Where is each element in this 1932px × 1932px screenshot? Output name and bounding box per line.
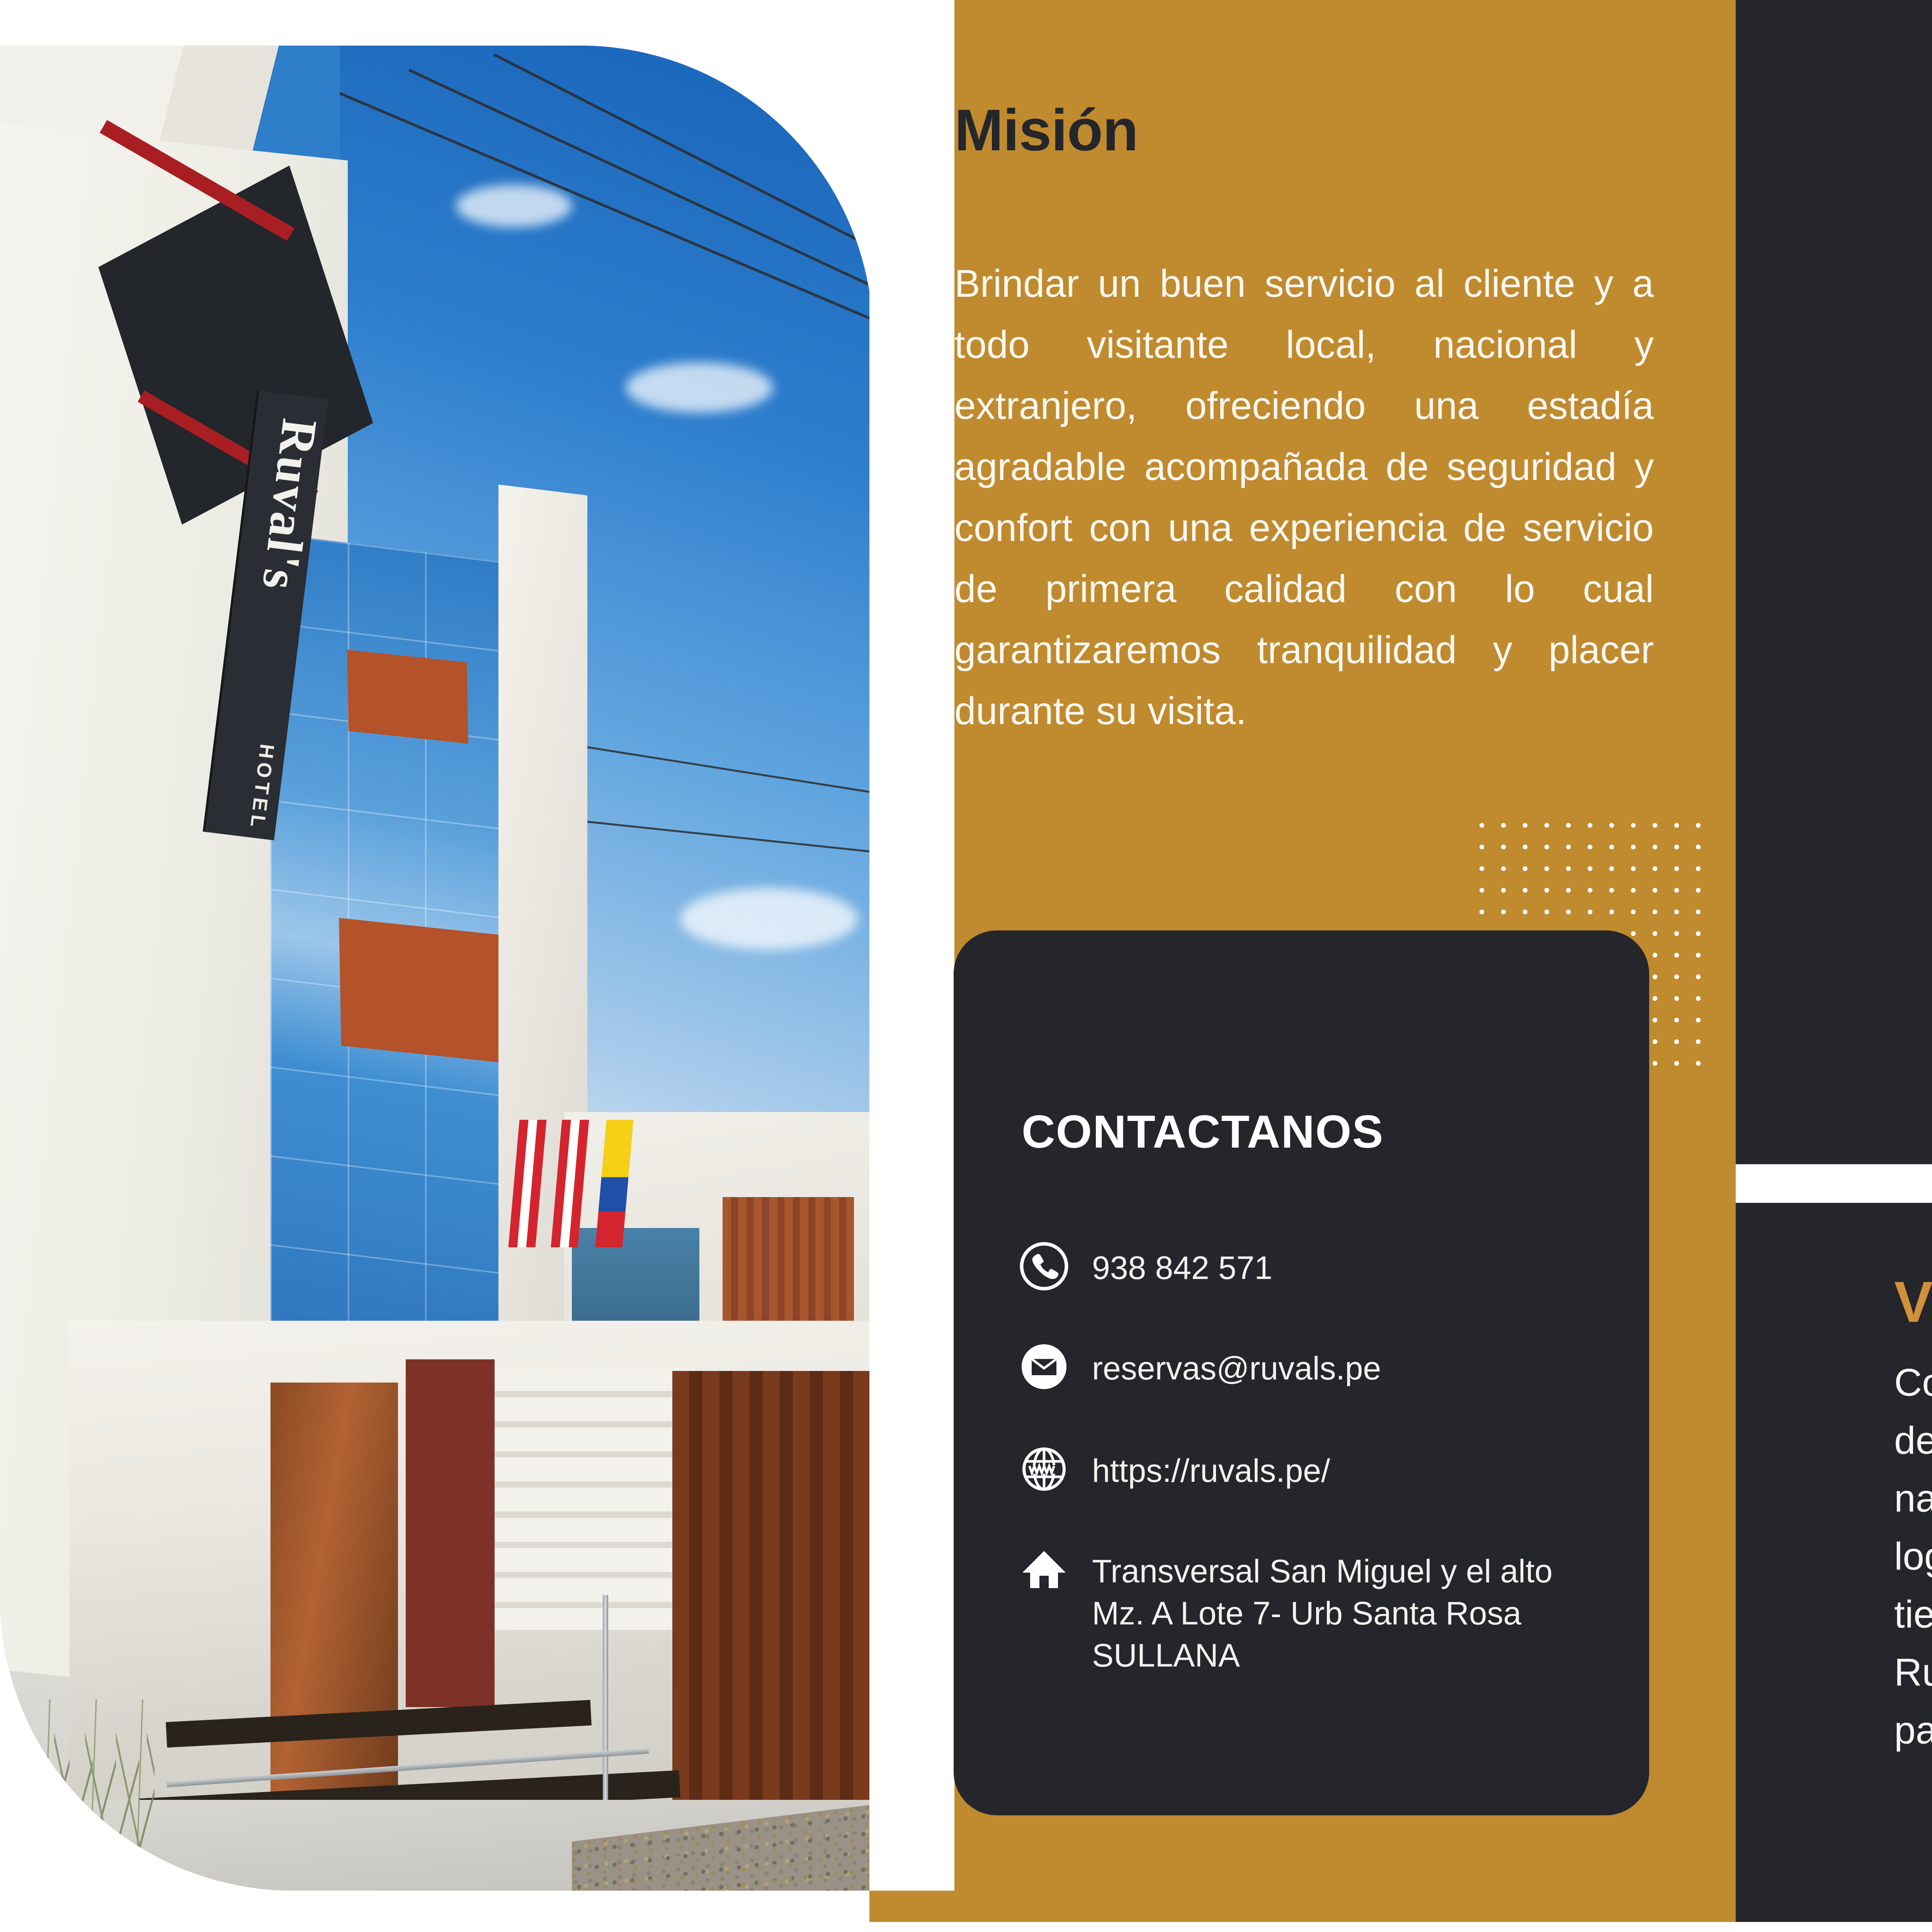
side-wood-door	[672, 1371, 873, 1827]
gold-panel-notch	[869, 0, 954, 1891]
contact-row-phone[interactable]: 938 842 571	[1019, 1242, 1272, 1291]
entrance-wall-red	[406, 1359, 495, 1707]
garage-door	[495, 1367, 696, 1630]
sign-sub-text: HOTEL	[214, 739, 279, 832]
handrail-post	[603, 1595, 608, 1811]
flag-peru	[551, 1120, 589, 1247]
page-footer: Escaneado con CamScanner	[0, 1922, 1932, 1932]
facade-accent-panel	[339, 918, 503, 1063]
hotel-building-photo: Ruval's HOTEL	[0, 46, 873, 1891]
front-door	[270, 1383, 398, 1808]
facade-accent-panel	[347, 650, 468, 743]
phone-icon	[1019, 1242, 1069, 1291]
contact-card: CONTACTANOS 938 842 571 reservas@ruvals.…	[954, 930, 1649, 1815]
contact-row-address[interactable]: Transversal San Miguel y el alto Mz. A L…	[1019, 1545, 1607, 1677]
website-value: https://ruvals.pe/	[1092, 1444, 1330, 1492]
contact-row-website[interactable]: https://ruvals.pe/	[1019, 1444, 1330, 1494]
email-icon	[1019, 1342, 1069, 1391]
address-value: Transversal San Miguel y el alto Mz. A L…	[1092, 1545, 1594, 1677]
brochure-page: Ruval's HOTEL Misión Brindar un buen ser…	[0, 0, 1932, 1932]
values-panel: 04 TRABAJO EN EQUIPO: desarrollo de comp…	[1736, 0, 1932, 1164]
vision-title: Visión	[1894, 1269, 1932, 1335]
contact-title: CONTACTANOS	[1022, 1105, 1384, 1158]
globe-icon	[1019, 1444, 1069, 1494]
home-icon	[1019, 1545, 1069, 1594]
cloud-shape	[456, 185, 572, 227]
mission-title: Misión	[954, 97, 1138, 164]
flag-ecuador	[595, 1120, 634, 1247]
cloud-shape	[626, 362, 773, 413]
contact-row-email[interactable]: reservas@ruvals.pe	[1019, 1342, 1381, 1391]
email-value: reservas@ruvals.pe	[1092, 1342, 1381, 1389]
mission-body: Brindar un buen servicio al cliente y a …	[954, 253, 1654, 742]
phone-value: 938 842 571	[1092, 1242, 1272, 1289]
flag-group	[514, 1120, 657, 1282]
plant-shrub	[23, 1699, 155, 1891]
vision-panel: Visión Convertirnos en la mejor opción d…	[1736, 1203, 1932, 1922]
flag-peru	[509, 1120, 547, 1247]
vision-body: Convertirnos en la mejor opción de los v…	[1894, 1354, 1932, 1759]
cloud-shape	[680, 888, 858, 950]
